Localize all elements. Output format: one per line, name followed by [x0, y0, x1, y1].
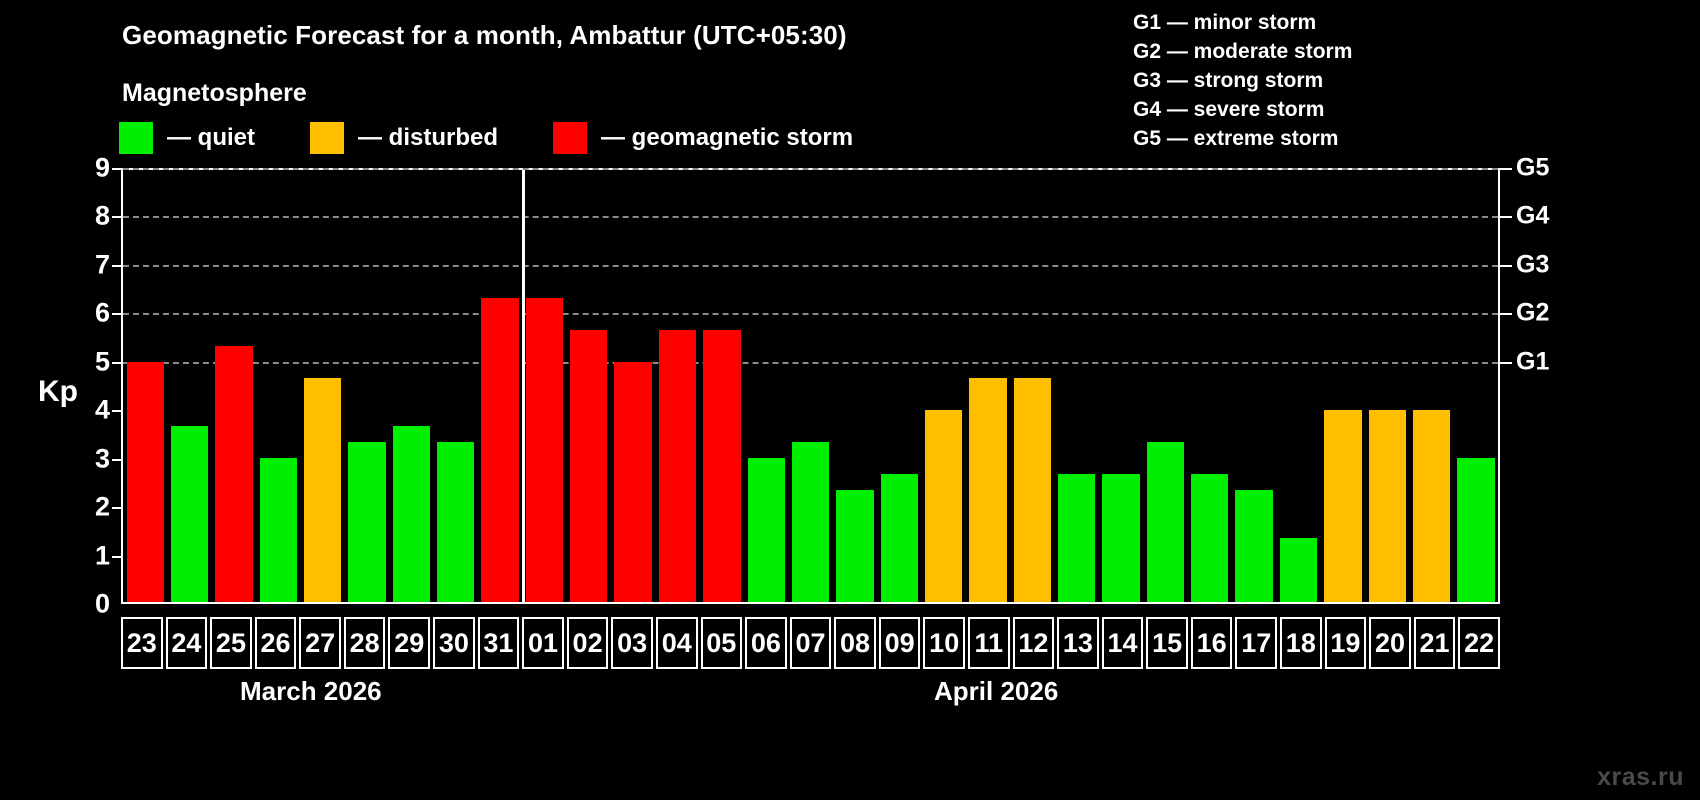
legend-item-quiet: — quiet: [119, 122, 255, 154]
y-tick-mark-5: [112, 362, 122, 364]
magnetosphere-label: Magnetosphere: [122, 79, 307, 108]
y-tick-label-0: 0: [64, 589, 110, 620]
month-separator: [522, 170, 525, 602]
plot-area: [121, 168, 1500, 604]
g-axis-tick-g3: [1500, 265, 1512, 267]
bar-23[interactable]: [127, 362, 164, 602]
g-axis-tick-g1: [1500, 362, 1512, 364]
bar-cell[interactable]: [389, 170, 433, 602]
bar-17[interactable]: [1235, 490, 1272, 602]
bar-25[interactable]: [215, 346, 252, 602]
page-title: Geomagnetic Forecast for a month, Ambatt…: [122, 20, 847, 51]
g-axis-tick-g5: [1500, 168, 1512, 170]
y-tick-mark-8: [112, 216, 122, 218]
legend-item-storm: — geomagnetic storm: [553, 122, 853, 154]
bar-cell[interactable]: [1055, 170, 1099, 602]
date-cell-16[interactable]: 16: [1191, 617, 1233, 669]
y-tick-label-7: 7: [64, 249, 110, 280]
bar-cell[interactable]: [1365, 170, 1409, 602]
bar-12[interactable]: [1014, 378, 1051, 602]
date-cell-01[interactable]: 01: [522, 617, 564, 669]
date-cell-31[interactable]: 31: [478, 617, 520, 669]
date-cell-28[interactable]: 28: [344, 617, 386, 669]
y-tick-label-8: 8: [64, 201, 110, 232]
date-cell-07[interactable]: 07: [790, 617, 832, 669]
legend-label-quiet: — quiet: [167, 124, 255, 152]
watermark: xras.ru: [1597, 763, 1684, 792]
bar-08[interactable]: [836, 490, 873, 602]
bar-cell[interactable]: [522, 170, 566, 602]
date-cell-03[interactable]: 03: [611, 617, 653, 669]
date-cell-05[interactable]: 05: [701, 617, 743, 669]
y-tick-label-1: 1: [64, 540, 110, 571]
date-cell-17[interactable]: 17: [1235, 617, 1277, 669]
date-cell-11[interactable]: 11: [968, 617, 1010, 669]
date-cell-04[interactable]: 04: [656, 617, 698, 669]
bar-cell[interactable]: [212, 170, 256, 602]
legend-item-disturbed: — disturbed: [310, 122, 498, 154]
bar-cell[interactable]: [744, 170, 788, 602]
y-tick-mark-4: [112, 410, 122, 412]
bar-01[interactable]: [526, 298, 563, 602]
date-cell-08[interactable]: 08: [834, 617, 876, 669]
bar-cell[interactable]: [877, 170, 921, 602]
bar-21[interactable]: [1413, 410, 1450, 602]
bar-cell[interactable]: [1276, 170, 1320, 602]
date-cell-23[interactable]: 23: [121, 617, 163, 669]
y-tick-mark-2: [112, 507, 122, 509]
bar-cell[interactable]: [1010, 170, 1054, 602]
bar-cell[interactable]: [256, 170, 300, 602]
g-scale-row-1: G1 — minor storm: [1133, 8, 1352, 37]
y-tick-mark-7: [112, 265, 122, 267]
y-tick-label-2: 2: [64, 492, 110, 523]
date-cell-24[interactable]: 24: [166, 617, 208, 669]
date-cell-25[interactable]: 25: [210, 617, 252, 669]
bar-cell[interactable]: [966, 170, 1010, 602]
bar-18[interactable]: [1280, 538, 1317, 602]
bar-19[interactable]: [1324, 410, 1361, 602]
legend-swatch-disturbed: [310, 122, 344, 154]
bar-cell[interactable]: [1409, 170, 1453, 602]
date-cell-10[interactable]: 10: [923, 617, 965, 669]
bar-cell[interactable]: [300, 170, 344, 602]
bar-cell[interactable]: [567, 170, 611, 602]
y-tick-mark-9: [112, 168, 122, 170]
date-cell-22[interactable]: 22: [1458, 617, 1500, 669]
bar-cell[interactable]: [833, 170, 877, 602]
g-axis-label-g1: G1: [1516, 347, 1549, 376]
y-tick-mark-1: [112, 556, 122, 558]
bar-30[interactable]: [437, 442, 474, 602]
g-scale-row-3: G3 — strong storm: [1133, 66, 1352, 95]
g-axis-label-g2: G2: [1516, 299, 1549, 328]
bar-cell[interactable]: [123, 170, 167, 602]
date-cell-27[interactable]: 27: [299, 617, 341, 669]
g-axis-label-g4: G4: [1516, 202, 1549, 231]
date-cell-06[interactable]: 06: [745, 617, 787, 669]
y-tick-label-9: 9: [64, 153, 110, 184]
date-cell-30[interactable]: 30: [433, 617, 475, 669]
bar-27[interactable]: [304, 378, 341, 602]
bar-cell[interactable]: [611, 170, 655, 602]
date-axis: 2324252627282930310102030405060708091011…: [121, 617, 1500, 669]
y-tick-mark-3: [112, 459, 122, 461]
date-cell-15[interactable]: 15: [1146, 617, 1188, 669]
bar-20[interactable]: [1369, 410, 1406, 602]
bar-cell[interactable]: [788, 170, 832, 602]
bar-cell[interactable]: [700, 170, 744, 602]
bar-cell[interactable]: [1321, 170, 1365, 602]
bar-26[interactable]: [260, 458, 297, 602]
date-cell-20[interactable]: 20: [1369, 617, 1411, 669]
bar-31[interactable]: [481, 298, 518, 602]
bar-cell[interactable]: [167, 170, 211, 602]
legend-label-storm: — geomagnetic storm: [601, 124, 853, 152]
legend-swatch-storm: [553, 122, 587, 154]
y-tick-label-6: 6: [64, 298, 110, 329]
legend-label-disturbed: — disturbed: [358, 124, 498, 152]
bar-28[interactable]: [348, 442, 385, 602]
bar-cell[interactable]: [1143, 170, 1187, 602]
bar-11[interactable]: [969, 378, 1006, 602]
y-axis-title: Kp: [38, 375, 78, 409]
g-axis-label-g5: G5: [1516, 154, 1549, 183]
month-label-april: April 2026: [934, 676, 1058, 707]
date-cell-18[interactable]: 18: [1280, 617, 1322, 669]
date-cell-21[interactable]: 21: [1414, 617, 1456, 669]
bar-cell[interactable]: [1188, 170, 1232, 602]
date-cell-19[interactable]: 19: [1325, 617, 1367, 669]
date-cell-09[interactable]: 09: [879, 617, 921, 669]
y-tick-mark-6: [112, 313, 122, 315]
g-scale-row-4: G4 — severe storm: [1133, 95, 1352, 124]
bar-10[interactable]: [925, 410, 962, 602]
bar-15[interactable]: [1147, 442, 1184, 602]
month-label-march: March 2026: [240, 676, 382, 707]
bar-22[interactable]: [1457, 458, 1494, 602]
bar-cell[interactable]: [1099, 170, 1143, 602]
bar-cell[interactable]: [655, 170, 699, 602]
bar-29[interactable]: [393, 426, 430, 602]
bar-04[interactable]: [659, 330, 696, 602]
date-cell-02[interactable]: 02: [567, 617, 609, 669]
legend: — quiet— disturbed— geomagnetic storm: [119, 122, 908, 154]
bar-16[interactable]: [1191, 474, 1228, 602]
g-scale-legend: G1 — minor stormG2 — moderate stormG3 — …: [1133, 8, 1352, 153]
g-scale-row-5: G5 — extreme storm: [1133, 124, 1352, 153]
legend-swatch-quiet: [119, 122, 153, 154]
date-cell-26[interactable]: 26: [255, 617, 297, 669]
g-axis-tick-g2: [1500, 313, 1512, 315]
bar-14[interactable]: [1102, 474, 1139, 602]
y-tick-label-3: 3: [64, 443, 110, 474]
y-tick-label-5: 5: [64, 346, 110, 377]
bar-cell[interactable]: [1232, 170, 1276, 602]
g-axis-tick-g4: [1500, 216, 1512, 218]
bar-02[interactable]: [570, 330, 607, 602]
date-cell-13[interactable]: 13: [1057, 617, 1099, 669]
bar-24[interactable]: [171, 426, 208, 602]
bar-06[interactable]: [748, 458, 785, 602]
bar-03[interactable]: [614, 362, 651, 602]
bar-cell[interactable]: [921, 170, 965, 602]
bar-07[interactable]: [792, 442, 829, 602]
bar-05[interactable]: [703, 330, 740, 602]
bar-09[interactable]: [881, 474, 918, 602]
bar-13[interactable]: [1058, 474, 1095, 602]
date-cell-12[interactable]: 12: [1013, 617, 1055, 669]
date-cell-14[interactable]: 14: [1102, 617, 1144, 669]
bar-cell[interactable]: [434, 170, 478, 602]
bar-cell[interactable]: [478, 170, 522, 602]
bar-series: [123, 170, 1498, 602]
g-axis-label-g3: G3: [1516, 250, 1549, 279]
bar-cell[interactable]: [345, 170, 389, 602]
date-cell-29[interactable]: 29: [388, 617, 430, 669]
g-scale-row-2: G2 — moderate storm: [1133, 37, 1352, 66]
bar-cell[interactable]: [1454, 170, 1498, 602]
